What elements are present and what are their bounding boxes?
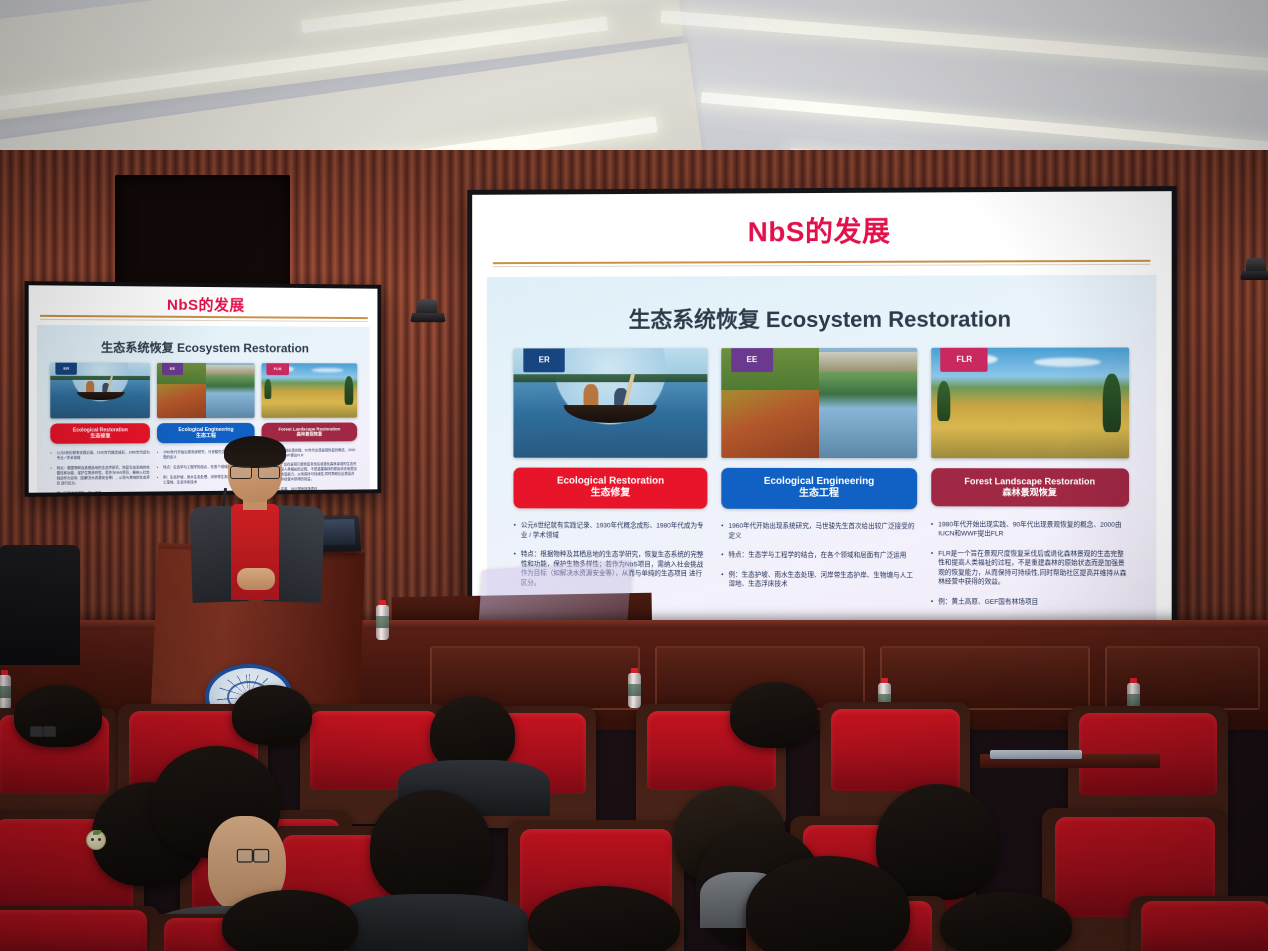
golden-hills-forest-photo: FLR [931, 347, 1129, 458]
audience-head [14, 685, 102, 747]
audience-area [0, 690, 1268, 951]
cliffs-and-lake-photo: EE [721, 348, 917, 459]
bullet-text: 公元6世纪就有实践记录、1930年代概念成形、1980年代成为专业 / 学术领域 [57, 451, 150, 462]
banner-er-cn: 生态修复 [519, 488, 701, 501]
tag-flr: FLR [266, 363, 289, 375]
banner-er: Ecological Restoration 生态修复 [50, 423, 150, 444]
banner-flr-cn: 森林景观恢复 [937, 487, 1123, 499]
audience-head [232, 685, 312, 745]
banner-ee-cn: 生态工程 [727, 488, 911, 501]
slide-title: NbS的发展 [167, 293, 245, 315]
slide-title-zone-small: NbS的发展 [29, 285, 378, 323]
presenter [185, 440, 330, 600]
bullet-text: 特点：根据物种及其栖息地的生态学研究，恢复生态系统的完整性和功能，保护生物多样性… [57, 465, 150, 486]
glasses-icon [230, 466, 280, 477]
audience-head [940, 892, 1072, 951]
bullet-text: 特点：生态学与工程学的结合，在各个领域和层面有广泛运用 [728, 551, 917, 561]
wall-recess [115, 175, 290, 295]
cliffs-and-lake-photo: EE [157, 363, 255, 418]
tag-er: ER [55, 363, 77, 375]
column-er: ER Ecological Restoration 生态修复 •公元6世纪就有实… [50, 363, 150, 493]
stage-chair [0, 545, 80, 665]
banner-er-en: Ecological Restoration [557, 475, 664, 486]
banner-er: Ecological Restoration 生态修复 [514, 468, 708, 509]
lecture-hall-photo: NbS的发展 生态系统恢复 Ecosystem Restoration ER E… [0, 0, 1268, 951]
auditorium-seat[interactable] [0, 906, 160, 951]
glasses-icon [30, 726, 56, 735]
banner-flr: Forest Landscape Restoration 森林景观恢复 [931, 468, 1129, 507]
bullets-flr: •1980年代开始出现实践、90年代出现景观恢复的概念、2000由IUCN和WW… [931, 520, 1129, 617]
tag-ee: EE [162, 363, 183, 375]
ceiling-camera-icon [410, 299, 446, 331]
ceiling-camera-icon [1240, 258, 1268, 288]
auditorium-seat[interactable] [1130, 896, 1268, 951]
tag-flr: FLR [941, 348, 988, 372]
slide-body-heading: 生态系统恢复 Ecosystem Restoration [37, 325, 370, 364]
slide-body-heading: 生态系统恢复 Ecosystem Restoration [487, 275, 1156, 349]
bullet-text: 例：生态护坡、雨水生态处理、河岸带生态护岸、生物塘与人工湿地、生态浮床技术 [728, 570, 917, 590]
column-flr: FLR Forest Landscape Restoration 森林景观恢复 … [931, 347, 1129, 620]
bullets-er: •公元6世纪就有实践记录、1930年代概念成形、1980年代成为专业 / 学术领… [50, 451, 150, 493]
audience-shoulders [338, 894, 528, 951]
banner-flr: Forest Landscape Restoration 森林景观恢复 [261, 422, 357, 441]
bullets-ee: •1960年代开始出现系统研究，马世骏先生首次给出较广泛接受的定义 •特点：生态… [721, 522, 917, 600]
audience-head [370, 790, 492, 904]
golden-hills-forest-photo: FLR [261, 363, 357, 418]
banner-flr-cn: 森林景观恢复 [264, 432, 354, 438]
tag-ee: EE [731, 348, 773, 372]
bullet-text: 例：黄土高原、GEF国有林场项目 [938, 597, 1129, 607]
bullet-text: 1980年代开始出现实践、90年代出现景观恢复的概念、2000由IUCN和WWF… [938, 520, 1129, 540]
bullet-text: FLR是一个旨在景观尺度恢复采伐后或退化森林景观的生态完整性和提高人类福祉的过程… [938, 549, 1129, 588]
banner-ee-en: Ecological Engineering [764, 476, 874, 487]
slide-title: NbS的发展 [748, 210, 891, 251]
bullet-text: 1960年代开始出现系统研究，马世骏先生首次给出较广泛接受的定义 [728, 522, 917, 542]
bullet-text: 例：污染流域修复、矿山修复 [57, 490, 150, 493]
boat-on-lake-photo: ER [514, 348, 708, 458]
glasses-icon [237, 849, 270, 860]
boat-on-lake-photo: ER [50, 363, 150, 419]
audience-head [222, 890, 358, 951]
bullet-text: 公元6世纪就有实践记录、1930年代概念成形、1980年代成为专业 / 学术领域 [521, 522, 708, 542]
banner-er-cn: 生态修复 [53, 433, 147, 440]
water-bottle [376, 600, 389, 640]
tablet-screen [990, 750, 1082, 759]
tag-er: ER [523, 348, 565, 372]
audience-head [730, 682, 818, 748]
slide-title-zone: NbS的发展 [472, 191, 1172, 268]
banner-ee: Ecological Engineering 生态工程 [721, 468, 917, 509]
banner-flr-en: Forest Landscape Restoration [964, 476, 1095, 486]
column-ee: EE Ecological Engineering 生态工程 •1960年代开始… [721, 348, 917, 619]
panda-hairpin-icon [86, 830, 106, 850]
